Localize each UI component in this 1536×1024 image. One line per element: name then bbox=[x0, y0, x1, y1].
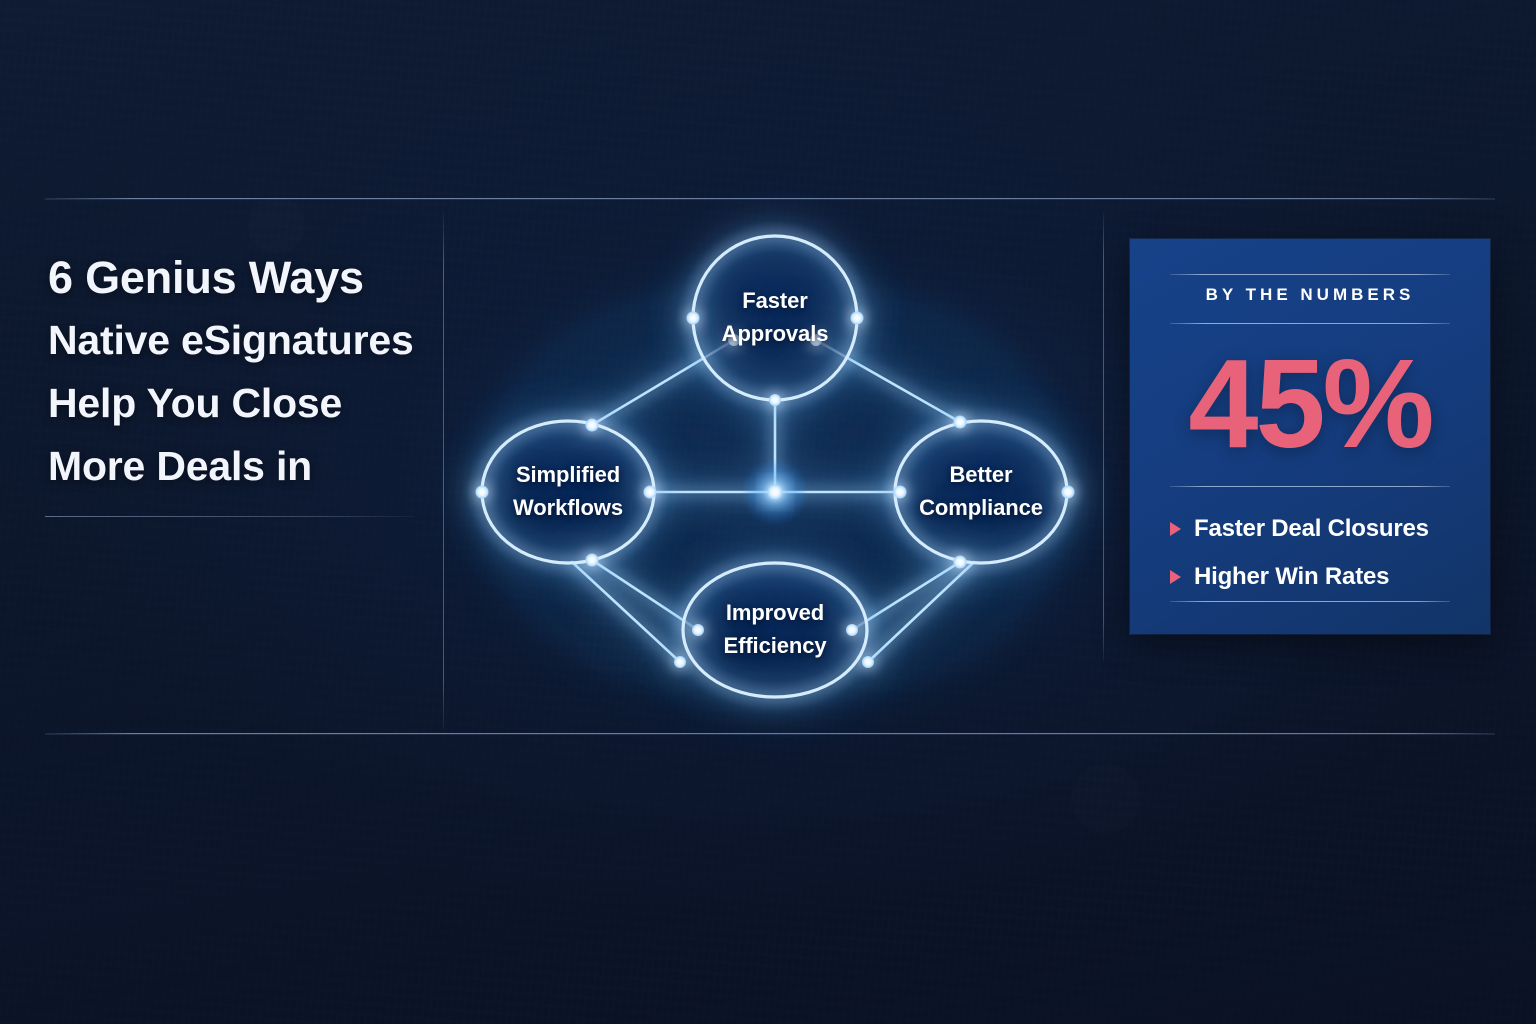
panel-eyebrow-label: BY THE NUMBERS bbox=[1130, 285, 1490, 305]
infographic-canvas: 6 Genius Ways Native eSignatures Help Yo… bbox=[0, 0, 1536, 1024]
panel-rule-eyebrow bbox=[1170, 323, 1450, 324]
network-diagram: Faster Approvals Simplified Workflows Be… bbox=[444, 200, 1104, 730]
list-item-label: Higher Win Rates bbox=[1194, 563, 1389, 591]
node-better-compliance-ring bbox=[895, 421, 1067, 563]
list-item-label: Faster Deal Closures bbox=[1194, 515, 1429, 543]
panel-rule-stat bbox=[1170, 486, 1450, 487]
node-simplified-workflows-ring bbox=[482, 421, 654, 563]
headline-line-3: Help You Close bbox=[48, 372, 428, 435]
list-item: Faster Deal Closures bbox=[1170, 505, 1470, 553]
page-title: 6 Genius Ways Native eSignatures Help Yo… bbox=[48, 246, 428, 498]
headline-underline-rule bbox=[45, 516, 415, 517]
top-divider-rule bbox=[45, 198, 1495, 199]
node-improved-efficiency-ring bbox=[683, 563, 867, 697]
stat-value: 45% bbox=[1130, 329, 1490, 479]
headline-line-4: More Deals in bbox=[48, 435, 428, 498]
by-the-numbers-panel: BY THE NUMBERS 45% Faster Deal Closures … bbox=[1130, 239, 1490, 634]
node-faster-approvals-ring bbox=[693, 236, 857, 400]
headline-line-1: 6 Genius Ways bbox=[48, 246, 428, 309]
stat-benefit-list: Faster Deal Closures Higher Win Rates bbox=[1170, 505, 1470, 601]
list-item: Higher Win Rates bbox=[1170, 553, 1470, 601]
triangle-bullet-icon bbox=[1170, 522, 1181, 536]
triangle-bullet-icon bbox=[1170, 570, 1181, 584]
bottom-divider-rule bbox=[45, 733, 1495, 734]
headline-line-2: Native eSignatures bbox=[48, 309, 428, 372]
panel-rule-top bbox=[1170, 274, 1450, 275]
panel-rule-bottom bbox=[1170, 601, 1450, 602]
